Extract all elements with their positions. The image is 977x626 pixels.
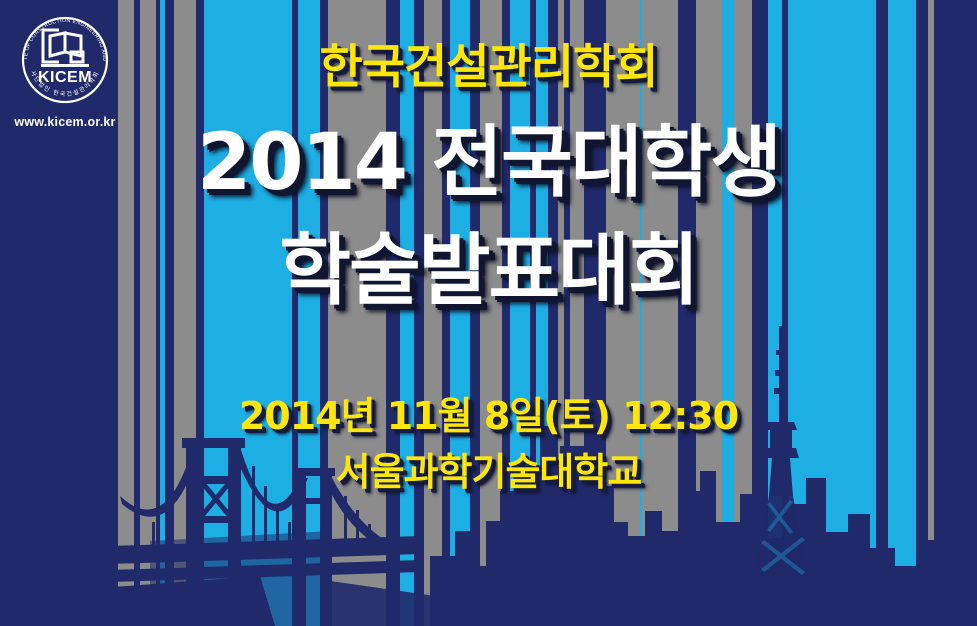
event-venue: 서울과학기술대학교 xyxy=(0,453,977,491)
poster-title-line2: 학술발표대회 xyxy=(0,232,977,310)
event-date: 2014년 11월 8일(토) 12:30 xyxy=(0,397,977,435)
poster-title-line1: 2014 전국대학생 xyxy=(0,124,977,202)
organization-name: 한국건설관리학회 xyxy=(0,44,977,91)
event-poster: KOREA INSTITUTE OF CONSTRUCTION ENGINEER… xyxy=(0,0,977,626)
